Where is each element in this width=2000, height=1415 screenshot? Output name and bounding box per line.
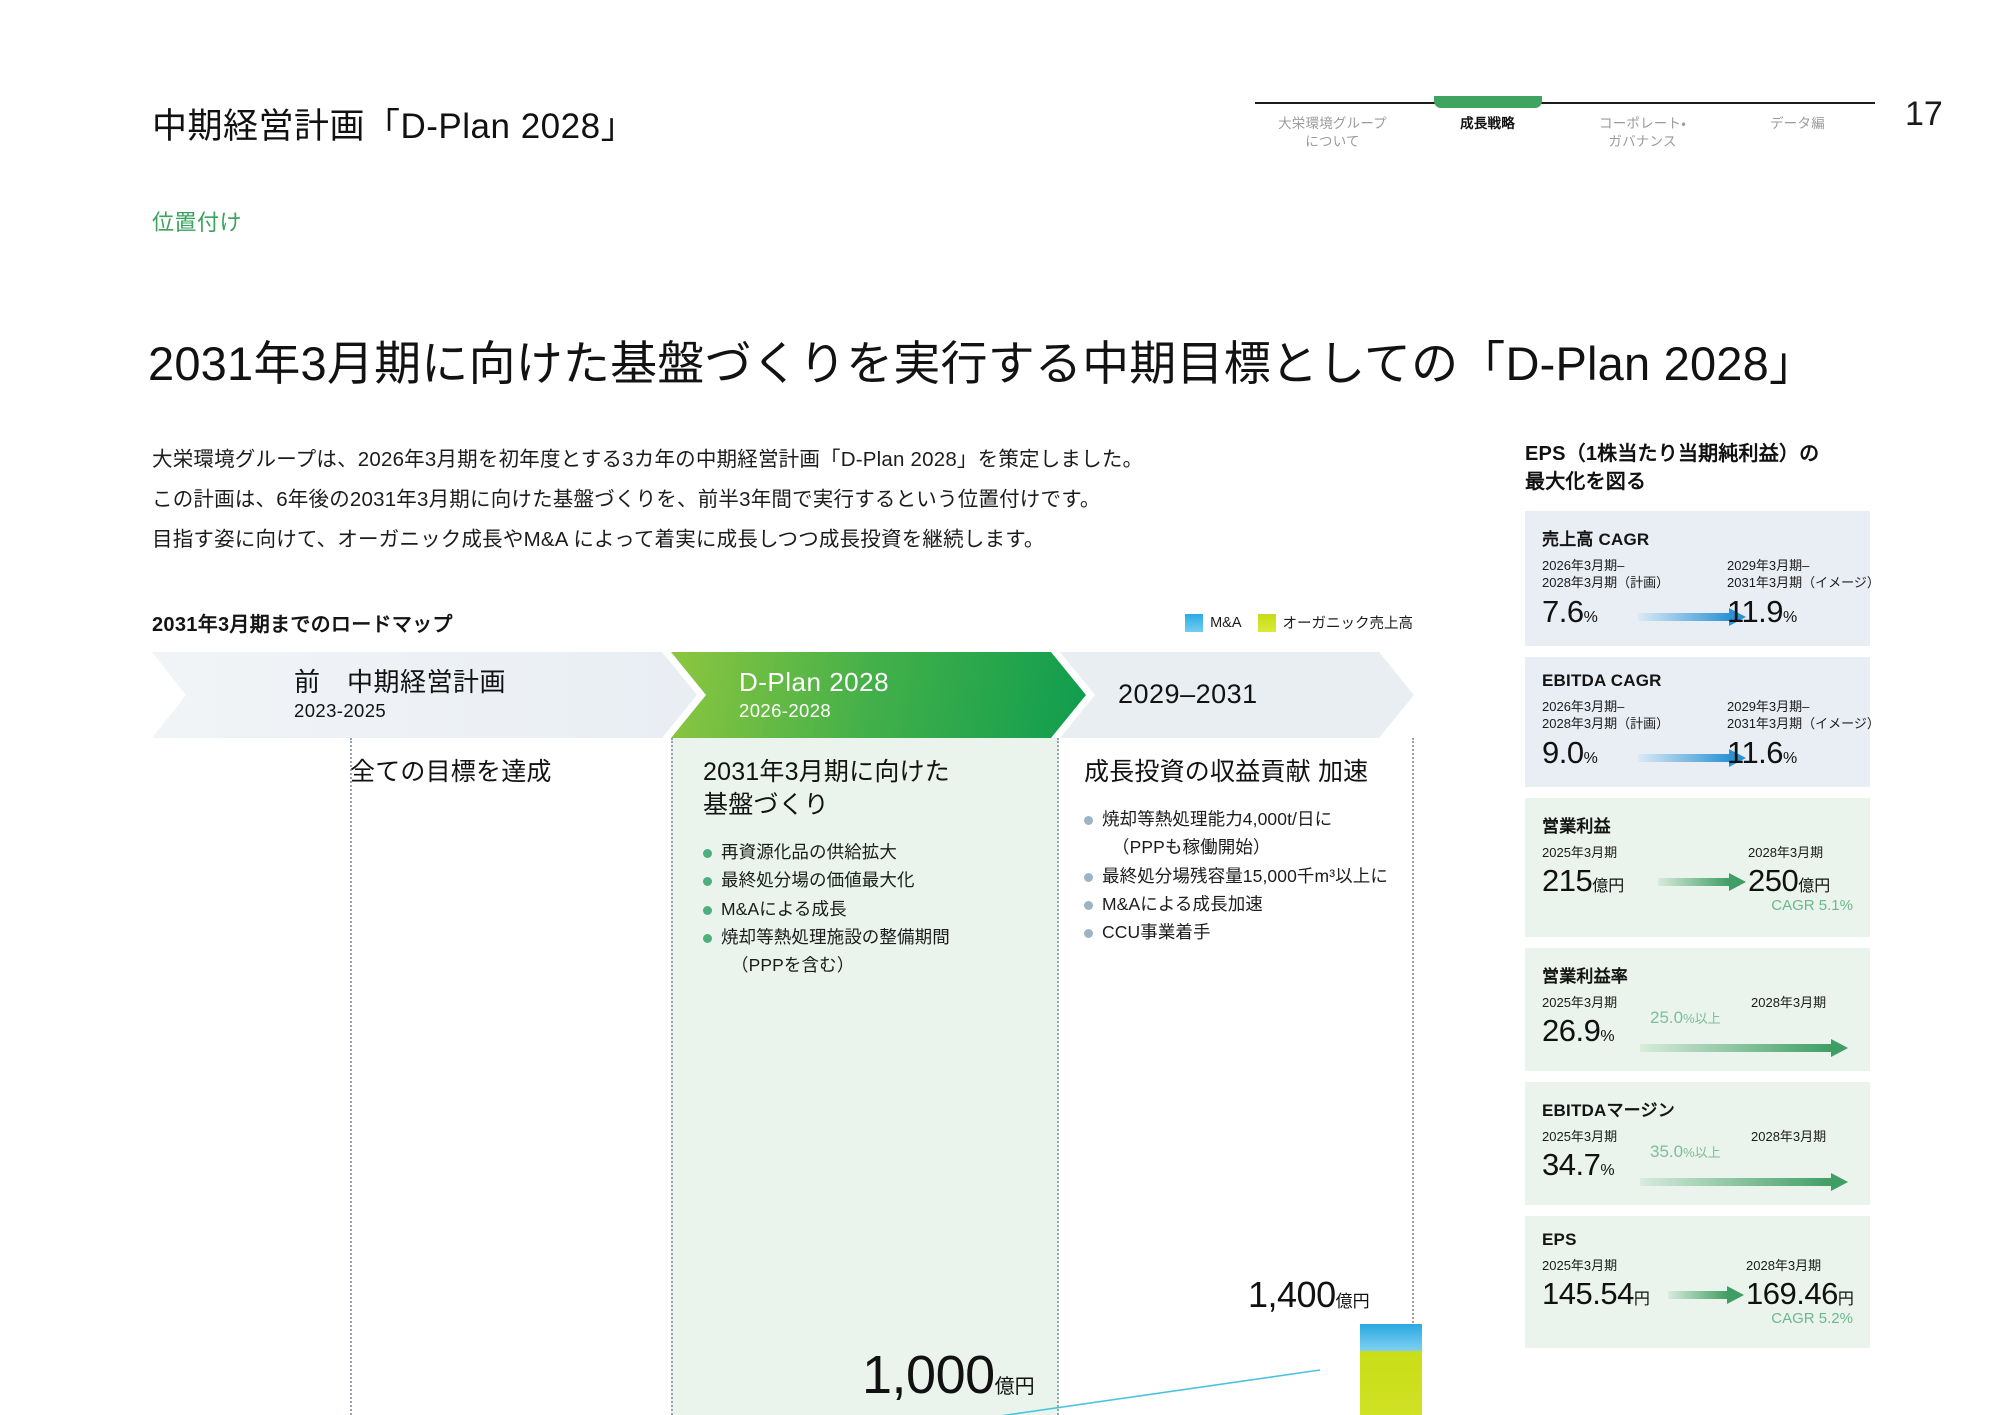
kpi-value-unit: % (1600, 1028, 1614, 1045)
kpi-card-title: 営業利益 (1542, 812, 1853, 837)
kpi-target-suffix: %以上 (1683, 1145, 1721, 1160)
lead-line-3: 目指す姿に向けて、オーガニック成長やM&A によって着実に成長しつつ成長投資を継… (152, 520, 1252, 560)
kpi-value-number: 11.9 (1727, 594, 1783, 629)
kpi-card-ebitda-cagr: EBITDA CAGR 2026年3月期– 2028年3月期（計画） 9.0% (1525, 657, 1870, 787)
kpi-card-title: 売上高 CAGR (1542, 525, 1853, 550)
column-heading-line1: 2031年3月期に向けた (703, 758, 950, 786)
kpi-period-line1: 2026年3月期– (1542, 558, 1624, 573)
kpi-period: 2028年3月期 (1746, 1257, 1853, 1275)
kpi-card-eps: EPS 2025年3月期 145.54円 2028年3月期 169.46円 C (1525, 1216, 1870, 1348)
list-item: M&Aによる成長加速 (1084, 890, 1388, 918)
nav-item-group-about[interactable]: 大栄環境グループ について (1255, 104, 1410, 151)
kpi-value-number: 145.54 (1542, 1276, 1634, 1311)
page-number: 17 (1905, 95, 1943, 134)
kpi-period: 2025年3月期 (1542, 844, 1624, 862)
kpi-period: 2026年3月期– 2028年3月期（計画） (1542, 557, 1669, 592)
chart-legend: M&A オーガニック売上高 (1185, 612, 1413, 633)
bar-group-2025: 278億円 801億円 (513, 1298, 683, 1415)
phase-name: 2029–2031 (1118, 679, 1414, 710)
headline: 2031年3月期に向けた基盤づくりを実行する中期目標としての「D-Plan 20… (148, 325, 1816, 394)
kpi-period: 2025年3月期 (1542, 994, 1617, 1012)
list-item: M&Aによる成長 (703, 895, 950, 923)
phase-dplan-2028: D-Plan 2028 2026-2028 (671, 652, 1086, 738)
bar-segment-ma (1360, 1324, 1422, 1351)
value-number: 1,400 (1248, 1274, 1336, 1315)
kpi-panel-heading: EPS（1株当たり当期純利益）の 最大化を図る (1525, 440, 1870, 497)
kpi-target-value: 25.0 (1650, 1008, 1683, 1027)
value-label-sales-2028: 1,000億円 (862, 1344, 1035, 1406)
phase-column-dplan: 2031年3月期に向けた 基盤づくり 再資源化品の供給拡大 最終処分場の価値最大… (703, 756, 950, 980)
kpi-value-number: 7.6 (1542, 594, 1584, 629)
kpi-value: 145.54円 (1542, 1276, 1650, 1312)
kpi-period: 2028年3月期 (1751, 1128, 1853, 1146)
kpi-period: 2028年3月期 (1751, 994, 1853, 1012)
kpi-value-unit: 円 (1838, 1291, 1854, 1308)
legend-label-organic: オーガニック売上高 (1283, 612, 1414, 633)
kpi-value-unit: 億円 (1592, 878, 1624, 895)
nav-label-line1: 大栄環境グループ (1278, 116, 1387, 131)
kpi-period: 2029年3月期– 2031年3月期（イメージ） (1727, 557, 1853, 592)
nav-label-line1: コーポレート・ (1599, 116, 1686, 131)
nav-item-corporate-governance[interactable]: コーポレート・ ガバナンス (1565, 104, 1720, 151)
kpi-value: 215億円 (1542, 863, 1624, 899)
lead-line-2: この計画は、6年後の2031年3月期に向けた基盤づくりを、前半3年間で実行すると… (152, 480, 1252, 520)
column-heading: 全ての目標を達成 (350, 756, 552, 789)
list-item-sub: （PPPを含む） (703, 951, 950, 979)
kpi-right-side: 2029年3月期– 2031年3月期（イメージ） 11.9% (1727, 557, 1853, 630)
kpi-arrow-icon (1668, 1287, 1744, 1303)
list-item: 再資源化品の供給拡大 (703, 838, 950, 866)
phase-years: 2026-2028 (739, 700, 1086, 722)
phase-column-2029-2031: 成長投資の収益貢献 加速 焼却等熱処理能力4,000t/日に （PPPも稼働開始… (1084, 756, 1388, 947)
kpi-left-side: 2025年3月期 34.7% (1542, 1128, 1617, 1184)
page-title: 中期経営計画「D-Plan 2028」 (152, 98, 636, 149)
kpi-right-side: 2028年3月期 169.46円 CAGR 5.2% (1746, 1257, 1853, 1328)
column-bullet-list: 焼却等熱処理能力4,000t/日に （PPPも稼働開始） 最終処分場残容量15,… (1084, 805, 1388, 947)
kpi-arrow-icon (1640, 1040, 1848, 1056)
bar-group-2022: EBITDA 198億円 売上高 649億円 (164, 1298, 334, 1415)
kpi-right-side: 2028年3月期 (1751, 994, 1853, 1012)
legend-swatch-ma-icon (1185, 614, 1203, 632)
kpi-value-number: 34.7 (1542, 1147, 1600, 1182)
kpi-period-line1: 2029年3月期– (1727, 699, 1809, 714)
kpi-value: 34.7% (1542, 1147, 1617, 1183)
kpi-period-line2: 2028年3月期（計画） (1542, 575, 1669, 590)
list-item: CCU事業着手 (1084, 918, 1388, 946)
kpi-card-title: EBITDAマージン (1542, 1096, 1853, 1121)
kpi-arrow-icon (1640, 1174, 1848, 1190)
kpi-value: 250億円 (1748, 863, 1853, 899)
list-item: 最終処分場の価値最大化 (703, 866, 950, 894)
legend-item-organic: オーガニック売上高 (1258, 612, 1414, 633)
list-item: 焼却等熱処理能力4,000t/日に (1084, 805, 1388, 833)
kpi-left-side: 2025年3月期 215億円 (1542, 844, 1624, 900)
kpi-arrow-icon (1658, 874, 1746, 890)
kpi-target-note: 35.0%以上 (1650, 1142, 1721, 1162)
kpi-card-operating-margin: 営業利益率 2025年3月期 26.9% 25.0%以上 2028年3月期 (1525, 948, 1870, 1071)
kpi-value: 11.9% (1727, 594, 1853, 630)
kpi-value-number: 26.9 (1542, 1013, 1600, 1048)
value-unit: 億円 (995, 1376, 1035, 1398)
roadmap-title: 2031年3月期までのロードマップ (152, 608, 453, 637)
kpi-value-unit: % (1584, 609, 1598, 626)
kpi-value-number: 169.46 (1746, 1276, 1838, 1311)
kpi-heading-line1: EPS（1株当たり当期純利益）の (1525, 443, 1819, 465)
phase-years: 2023-2025 (294, 700, 697, 722)
phase-name: D-Plan 2028 (739, 668, 1086, 698)
kpi-card-title: EPS (1542, 1230, 1853, 1250)
roadmap-phase-band: 前 中期経営計画 2023-2025 D-Plan 2028 2026-2028… (152, 652, 1414, 738)
section-nav: 大栄環境グループ について 成長戦略 コーポレート・ ガバナンス データ編 (1255, 102, 1875, 164)
nav-item-data-section[interactable]: データ編 (1720, 104, 1875, 133)
kpi-value: 26.9% (1542, 1013, 1617, 1049)
list-item: 焼却等熱処理施設の整備期間 (703, 923, 950, 951)
kpi-right-side: 2029年3月期– 2031年3月期（イメージ） 11.6% (1727, 698, 1853, 771)
lead-line-1: 大栄環境グループは、2026年3月期を初年度とする3カ年の中期経営計画「D-Pl… (152, 440, 1252, 480)
bar-group-2028: 360億円 1,000億円 (894, 1298, 1064, 1415)
kpi-period-line2: 2031年3月期（イメージ） (1727, 575, 1880, 590)
kpi-period: 2029年3月期– 2031年3月期（イメージ） (1727, 698, 1853, 733)
kpi-panel: EPS（1株当たり当期純利益）の 最大化を図る 売上高 CAGR 2026年3月… (1525, 440, 1870, 1359)
kpi-value-number: 9.0 (1542, 735, 1584, 770)
kpi-target-suffix: %以上 (1683, 1011, 1721, 1026)
column-heading-line2: 基盤づくり (703, 791, 829, 819)
kpi-period: 2026年3月期– 2028年3月期（計画） (1542, 698, 1669, 733)
kpi-right-side: 2028年3月期 250億円 CAGR 5.1% (1748, 844, 1853, 915)
kpi-cagr-note: CAGR 5.1% (1748, 897, 1853, 914)
column-heading: 2031年3月期に向けた 基盤づくり (703, 756, 950, 822)
kpi-card-ebitda-margin: EBITDAマージン 2025年3月期 34.7% 35.0%以上 2028年3… (1525, 1082, 1870, 1205)
kpi-card-title: 営業利益率 (1542, 962, 1853, 987)
value-label-sales-2031: 1,400億円 (1248, 1274, 1370, 1316)
kpi-period-line1: 2026年3月期– (1542, 699, 1624, 714)
list-item-sub: （PPPも稼働開始） (1084, 833, 1388, 861)
kpi-value-unit: % (1600, 1162, 1614, 1179)
list-item: 最終処分場残容量15,000千m³以上に (1084, 862, 1388, 890)
kpi-period-line2: 2031年3月期（イメージ） (1727, 716, 1880, 731)
kpi-value: 11.6% (1727, 735, 1853, 771)
kpi-value-unit: 億円 (1798, 878, 1830, 895)
kpi-value-number: 250 (1748, 863, 1798, 898)
kpi-value: 169.46円 (1746, 1276, 1853, 1312)
kpi-left-side: 2025年3月期 26.9% (1542, 994, 1617, 1050)
bar-sales-2031 (1360, 1324, 1422, 1415)
phase-name: 前 中期経営計画 (294, 668, 697, 698)
kpi-cagr-note: CAGR 5.2% (1746, 1310, 1853, 1327)
kpi-period-line2: 2028年3月期（計画） (1542, 716, 1669, 731)
phase-previous-plan: 前 中期経営計画 2023-2025 (152, 652, 697, 738)
nav-label-line2: について (1305, 134, 1359, 149)
report-page: 中期経営計画「D-Plan 2028」 大栄環境グループ について 成長戦略 コ… (0, 0, 2000, 1415)
section-label: 位置付け (152, 205, 242, 237)
legend-label-ma: M&A (1210, 615, 1241, 631)
chart-plot-area: EBITDA 198億円 売上高 649億円 278億円 (152, 1298, 1414, 1415)
kpi-card-title: EBITDA CAGR (1542, 671, 1853, 691)
kpi-right-side: 2028年3月期 (1751, 1128, 1853, 1146)
nav-label-line1: データ編 (1770, 116, 1825, 131)
kpi-target-note: 25.0%以上 (1650, 1008, 1721, 1028)
page-header: 中期経営計画「D-Plan 2028」 大栄環境グループ について 成長戦略 コ… (0, 0, 2000, 170)
nav-label-line2: ガバナンス (1608, 134, 1676, 149)
kpi-period: 2025年3月期 (1542, 1128, 1617, 1146)
kpi-period: 2025年3月期 (1542, 1257, 1650, 1275)
kpi-value-unit: 円 (1634, 1291, 1650, 1308)
value-number: 1,000 (862, 1345, 995, 1405)
column-heading: 成長投資の収益貢献 加速 (1084, 756, 1388, 789)
kpi-target-value: 35.0 (1650, 1142, 1683, 1161)
phase-column-previous: 全ての目標を達成 (350, 756, 552, 789)
lead-paragraph: 大栄環境グループは、2026年3月期を初年度とする3カ年の中期経営計画「D-Pl… (152, 440, 1252, 560)
kpi-period-line1: 2029年3月期– (1727, 558, 1809, 573)
kpi-value-unit: % (1783, 609, 1797, 626)
kpi-card-operating-profit: 営業利益 2025年3月期 215億円 2028年3月期 250億円 CAGR (1525, 798, 1870, 937)
roadmap-bar-chart: EBITDA 198億円 売上高 649億円 278億円 (152, 1298, 1414, 1415)
bar-group-2031: 500億円 1,400億円 (1284, 1298, 1454, 1415)
kpi-period: 2028年3月期 (1748, 844, 1853, 862)
legend-item-ma: M&A (1185, 614, 1241, 632)
legend-swatch-organic-icon (1258, 614, 1276, 632)
kpi-value-number: 11.6 (1727, 735, 1783, 770)
kpi-value-unit: % (1584, 750, 1598, 767)
nav-label-line1: 成長戦略 (1460, 116, 1515, 131)
value-unit: 億円 (1336, 1292, 1370, 1311)
bar-segment-organic (1360, 1351, 1422, 1415)
kpi-card-sales-cagr: 売上高 CAGR 2026年3月期– 2028年3月期（計画） 7.6% (1525, 511, 1870, 646)
kpi-left-side: 2025年3月期 145.54円 (1542, 1257, 1650, 1313)
column-bullet-list: 再資源化品の供給拡大 最終処分場の価値最大化 M&Aによる成長 焼却等熱処理施設… (703, 838, 950, 980)
kpi-value-number: 215 (1542, 863, 1592, 898)
kpi-value-unit: % (1783, 750, 1797, 767)
phase-2029-2031: 2029–2031 (1060, 652, 1414, 738)
kpi-heading-line2: 最大化を図る (1525, 471, 1646, 493)
nav-item-growth-strategy[interactable]: 成長戦略 (1410, 104, 1565, 133)
